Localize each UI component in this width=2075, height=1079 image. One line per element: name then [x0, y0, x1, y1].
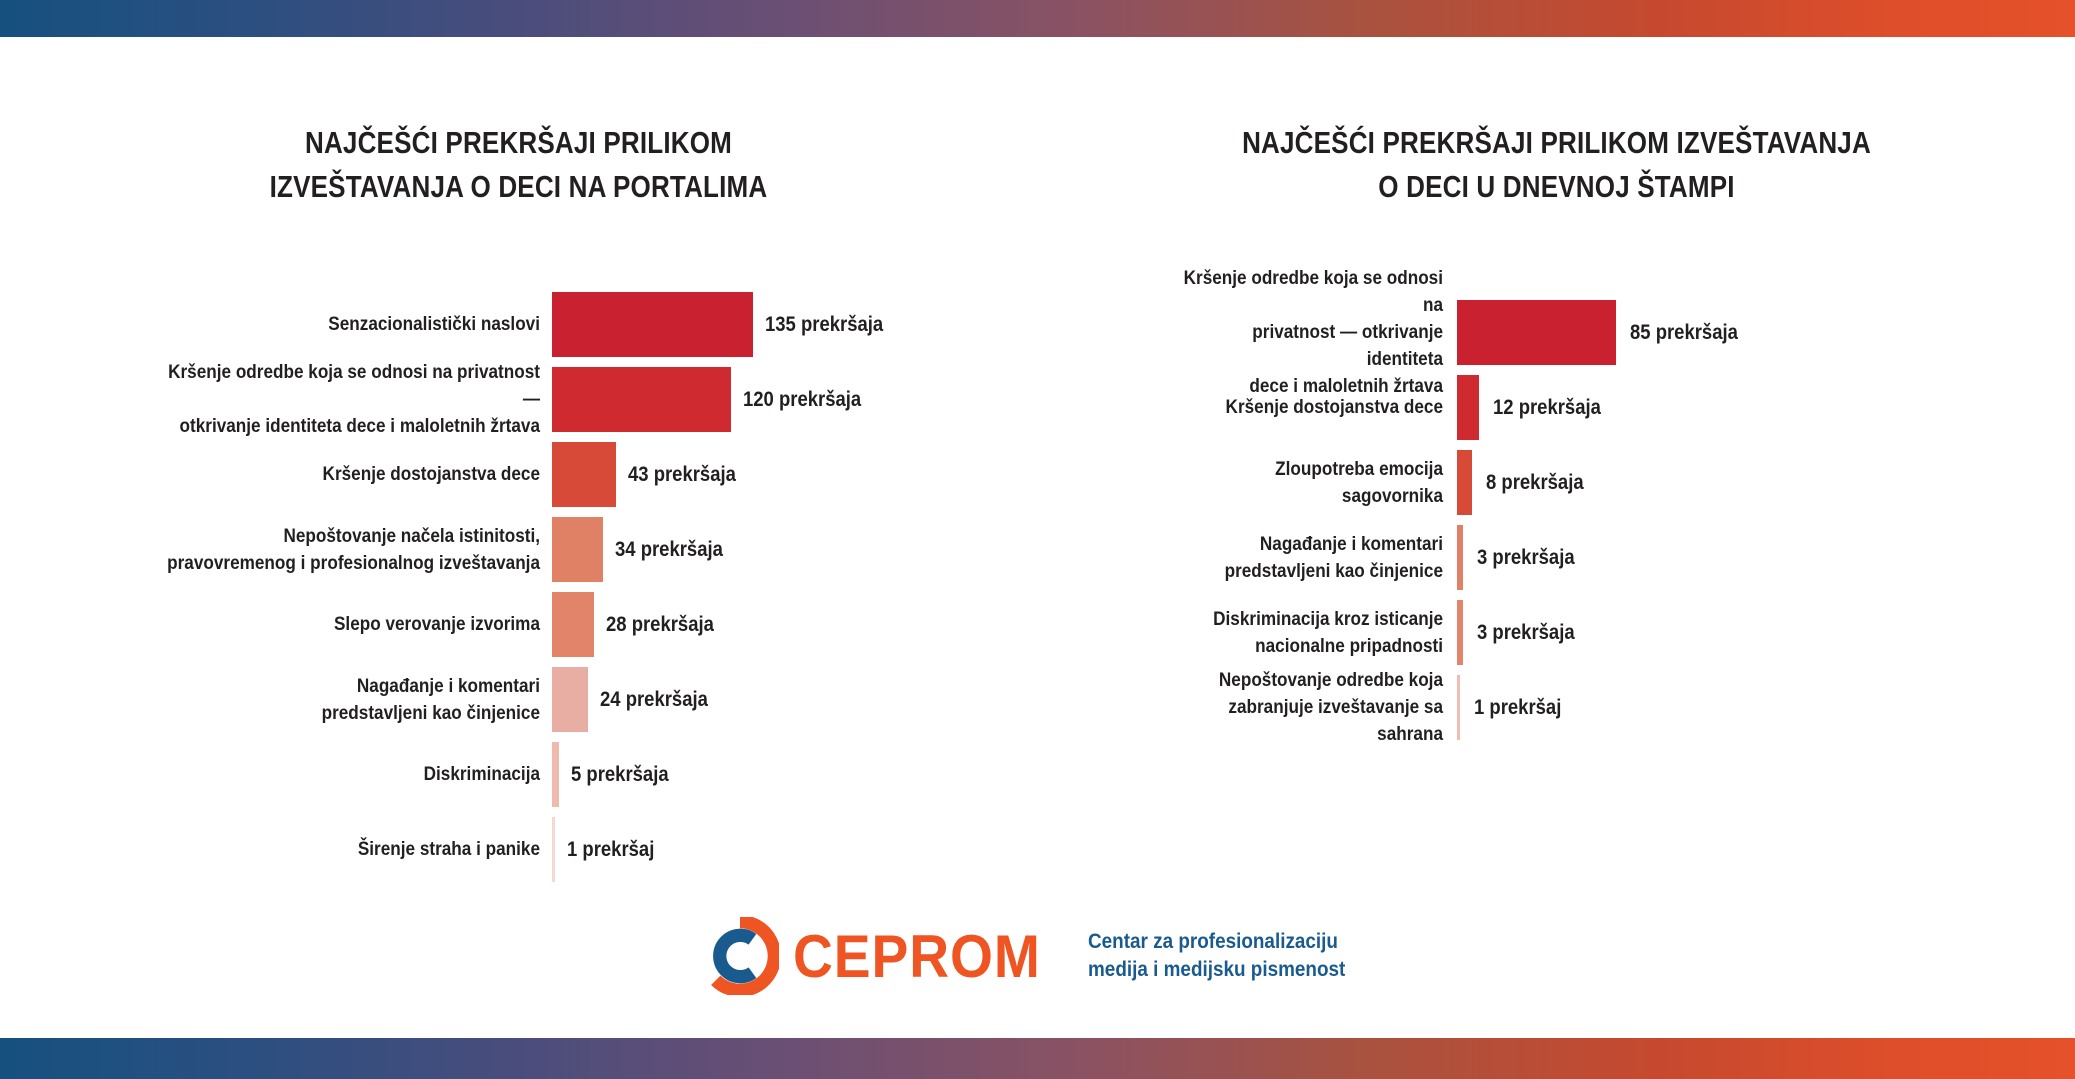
bar-category-label: Nepoštovanje odredbe koja zabranjuje izv… — [1179, 667, 1443, 748]
chart-row: Kršenje dostojanstva dece43 prekršaja — [100, 437, 1137, 512]
right-chart-title: NAJČEŠĆI PREKRŠAJI PRILIKOM IZVEŠTAVANJA… — [1121, 121, 1992, 209]
ceprom-wordmark: CEPROM — [793, 922, 1041, 991]
bar — [1457, 675, 1460, 740]
chart-row: Kršenje odredbe koja se odnosi na privat… — [100, 362, 1137, 437]
bar-category-label: Slepo verovanje izvorima — [153, 611, 540, 638]
bar — [552, 442, 616, 507]
bar-category-label: Nagađanje i komentari predstavljeni kao … — [153, 673, 540, 727]
left-bar-chart: Senzacionalistički naslovi135 prekršajaK… — [0, 287, 1137, 887]
bar — [552, 667, 588, 732]
bar — [552, 292, 753, 357]
bottom-gradient-band — [0, 1038, 2075, 1079]
ceprom-tagline: Centar za profesionalizaciju medija i me… — [1088, 928, 1345, 985]
chart-row: Kršenje odredbe koja se odnosi na privat… — [1143, 295, 2075, 370]
bar-category-label: Nagađanje i komentari predstavljeni kao … — [1179, 531, 1443, 585]
chart-row: Zloupotreba emocija sagovornika8 prekrša… — [1143, 445, 2075, 520]
bar-value-label: 3 prekršaja — [1477, 621, 1575, 645]
right-chart-panel: NAJČEŠĆI PREKRŠAJI PRILIKOM IZVEŠTAVANJA… — [1038, 37, 2075, 1038]
bar-category-label: Senzacionalistički naslovi — [153, 311, 540, 338]
bar-category-label: Diskriminacija — [153, 761, 540, 788]
chart-row: Nagađanje i komentari predstavljeni kao … — [100, 662, 1137, 737]
bar — [552, 817, 555, 882]
bar-value-label: 12 prekršaja — [1493, 396, 1601, 420]
chart-row: Širenje straha i panike1 prekršaj — [100, 812, 1137, 887]
chart-row: Nepoštovanje odredbe koja zabranjuje izv… — [1143, 670, 2075, 745]
bar-value-label: 34 prekršaja — [615, 538, 723, 562]
bar-value-label: 3 prekršaja — [1477, 546, 1575, 570]
chart-row: Diskriminacija kroz isticanje nacionalne… — [1143, 595, 2075, 670]
bar-value-label: 120 prekršaja — [743, 388, 861, 412]
left-chart-title: NAJČEŠĆI PREKRŠAJI PRILIKOM IZVEŠTAVANJA… — [83, 121, 954, 209]
bar — [552, 592, 594, 657]
bar — [1457, 450, 1472, 515]
bar — [1457, 525, 1463, 590]
bar — [552, 517, 603, 582]
bar-value-label: 24 prekršaja — [600, 688, 708, 712]
bar-category-label: Kršenje dostojanstva dece — [1179, 394, 1443, 421]
bar-category-label: Kršenje dostojanstva dece — [153, 461, 540, 488]
top-gradient-band — [0, 0, 2075, 37]
bar-value-label: 8 prekršaja — [1486, 471, 1584, 495]
bar — [552, 742, 559, 807]
bar-value-label: 1 prekršaj — [567, 838, 654, 862]
bar — [1457, 375, 1479, 440]
chart-row: Senzacionalistički naslovi135 prekršaja — [100, 287, 1137, 362]
bar-value-label: 28 prekršaja — [606, 613, 714, 637]
bar — [1457, 600, 1463, 665]
chart-row: Kršenje dostojanstva dece12 prekršaja — [1143, 370, 2075, 445]
chart-row: Nepoštovanje načela istinitosti, pravovr… — [100, 512, 1137, 587]
bar-value-label: 135 prekršaja — [765, 313, 883, 337]
bar-category-label: Kršenje odredbe koja se odnosi na privat… — [153, 359, 540, 440]
chart-row: Diskriminacija5 prekršaja — [100, 737, 1137, 812]
left-chart-panel: NAJČEŠĆI PREKRŠAJI PRILIKOM IZVEŠTAVANJA… — [0, 37, 1037, 1038]
ceprom-logo-icon — [701, 917, 779, 995]
bar — [552, 367, 731, 432]
bar-value-label: 85 prekršaja — [1630, 321, 1738, 345]
bar-value-label: 5 prekršaja — [571, 763, 669, 787]
bar-value-label: 1 prekršaj — [1474, 696, 1561, 720]
right-bar-chart: Kršenje odredbe koja se odnosi na privat… — [1038, 295, 2075, 745]
infographic-canvas: NAJČEŠĆI PREKRŠAJI PRILIKOM IZVEŠTAVANJA… — [0, 37, 2075, 1038]
bar — [1457, 300, 1616, 365]
footer-branding: CEPROM Centar za profesionalizaciju medi… — [0, 917, 2075, 995]
bar-category-label: Širenje straha i panike — [153, 836, 540, 863]
bar-value-label: 43 prekršaja — [628, 463, 736, 487]
bar-category-label: Diskriminacija kroz isticanje nacionalne… — [1179, 606, 1443, 660]
chart-row: Nagađanje i komentari predstavljeni kao … — [1143, 520, 2075, 595]
chart-row: Slepo verovanje izvorima28 prekršaja — [100, 587, 1137, 662]
bar-category-label: Nepoštovanje načela istinitosti, pravovr… — [153, 523, 540, 577]
bar-category-label: Zloupotreba emocija sagovornika — [1179, 456, 1443, 510]
